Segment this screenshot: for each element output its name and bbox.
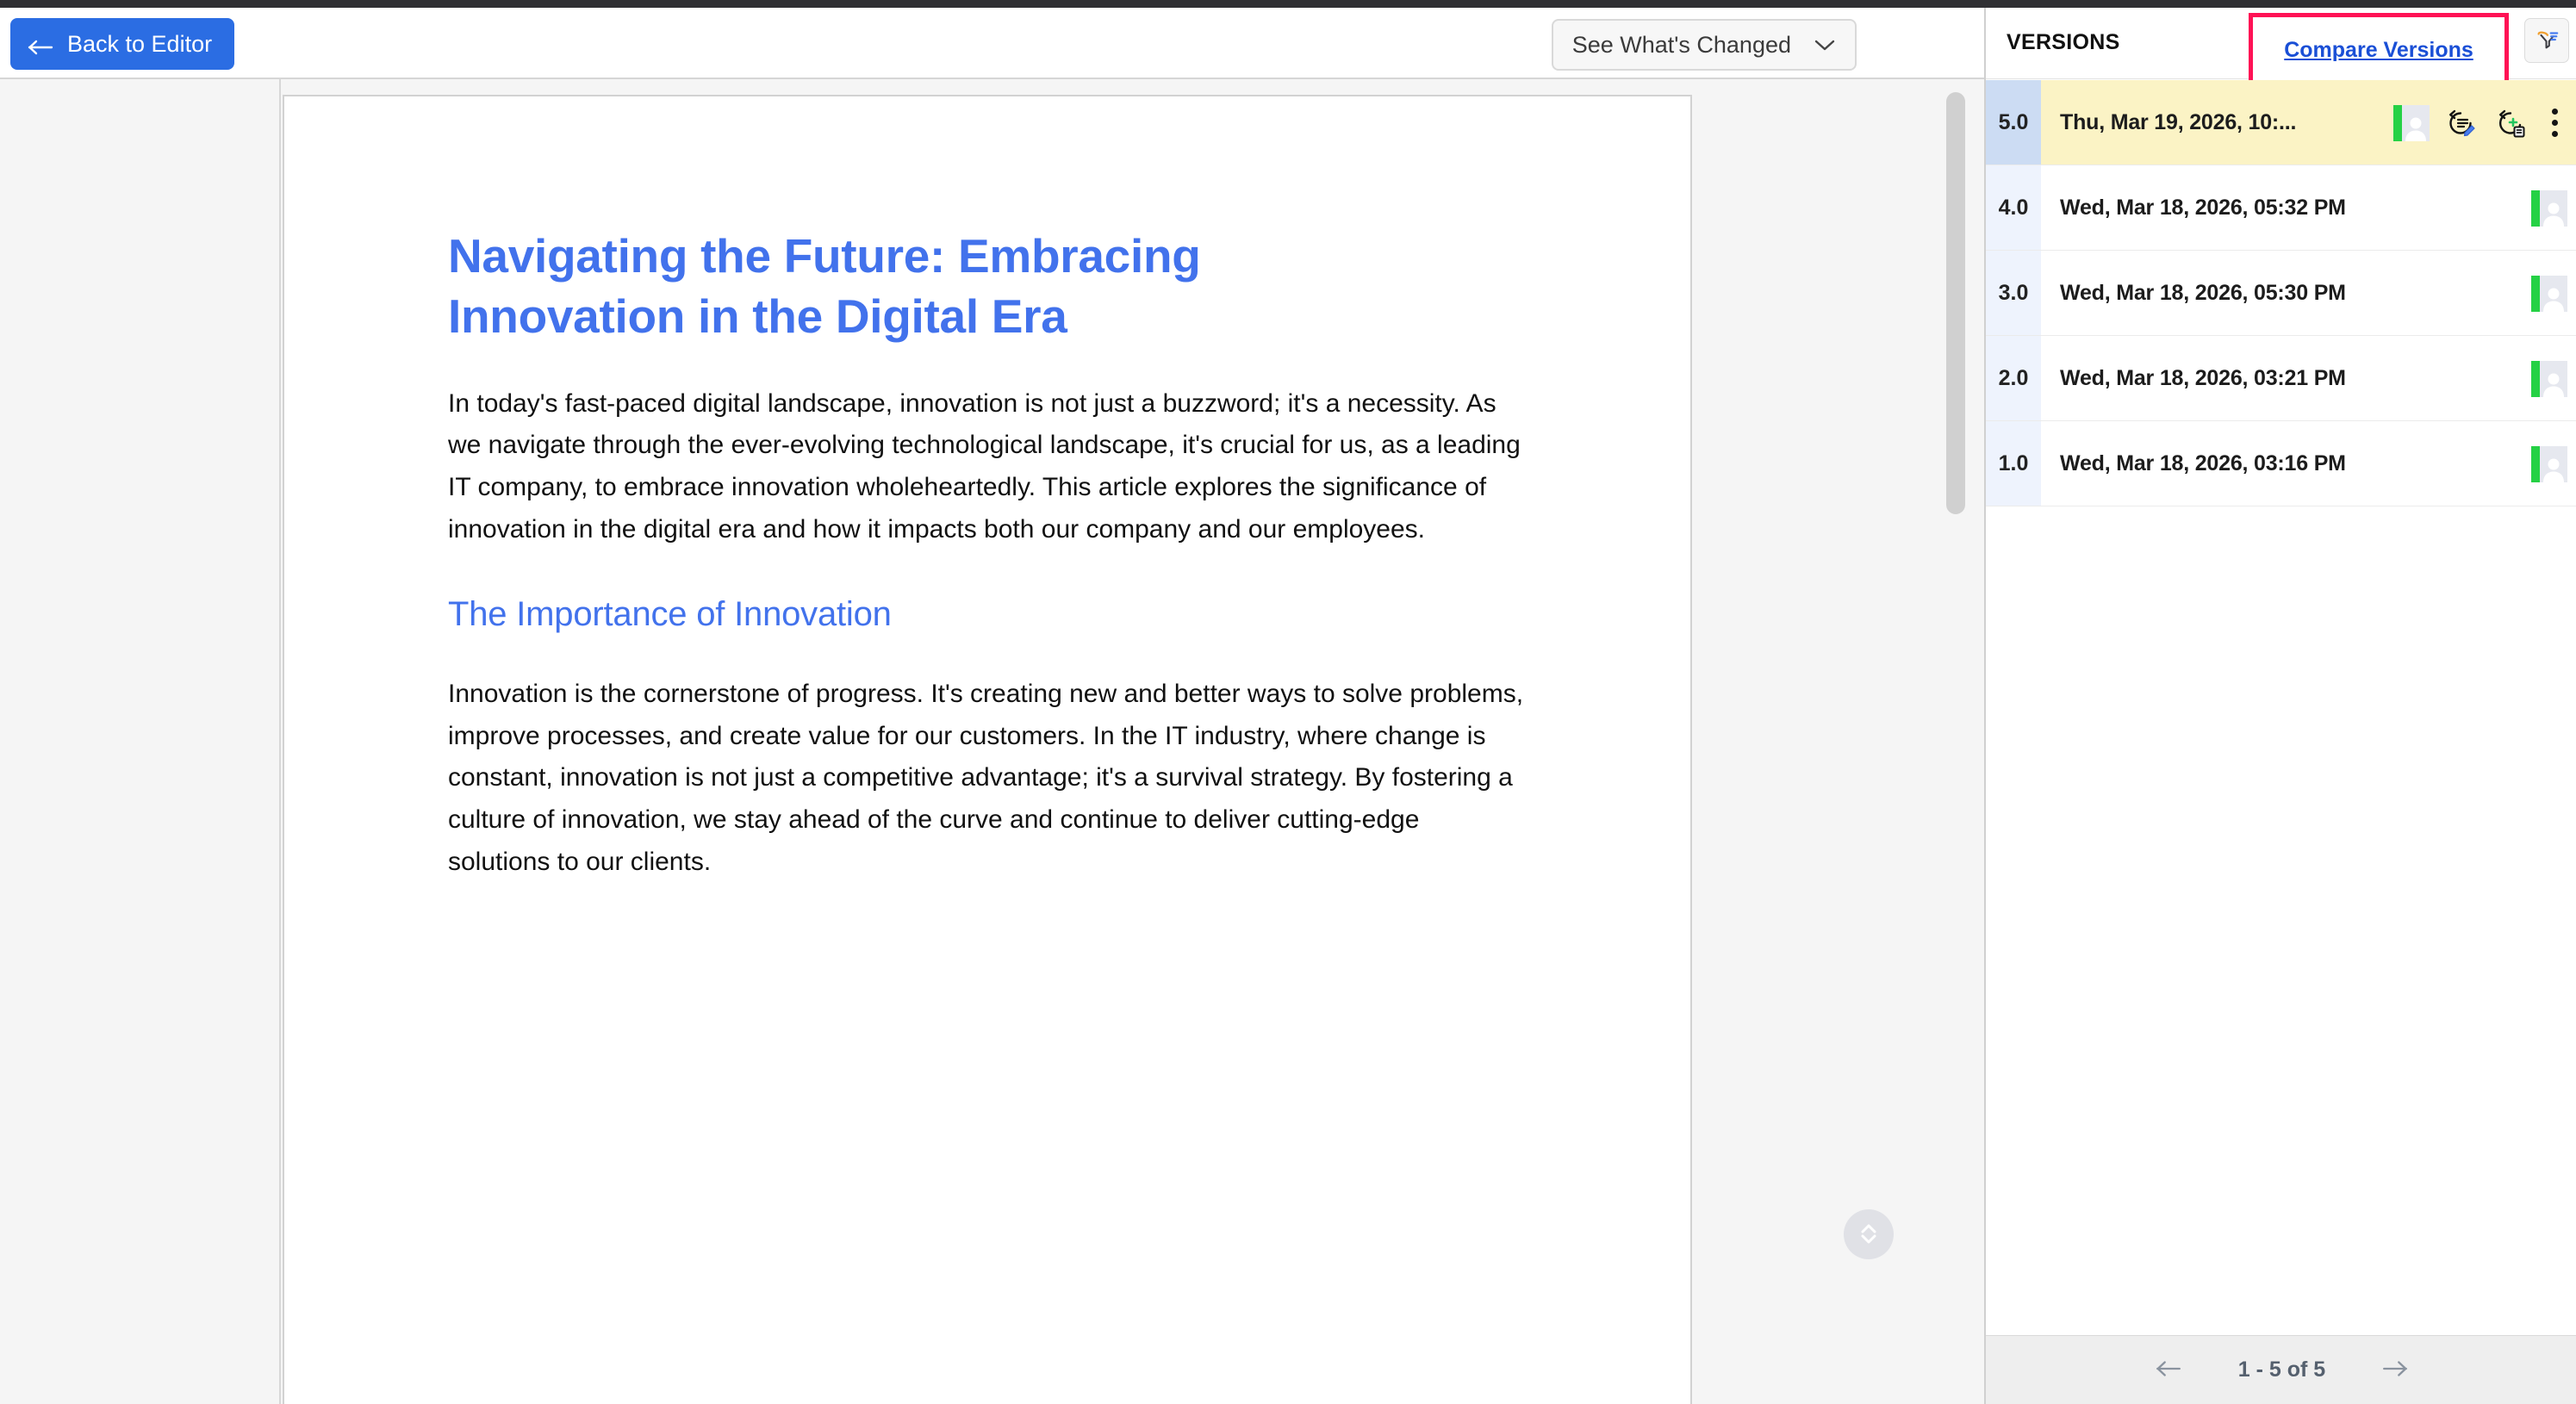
back-to-editor-button[interactable]: Back to Editor — [10, 18, 234, 70]
avatar-status-bar — [2531, 361, 2540, 397]
chevron-up-down-icon — [1856, 1221, 1882, 1249]
document-left-gutter — [0, 79, 281, 1404]
version-number: 3.0 — [1986, 251, 2041, 335]
filter-funnel-icon — [2534, 27, 2560, 55]
top-toolbar: Back to Editor See What's Changed — [0, 8, 1984, 79]
user-avatar-icon — [2393, 105, 2430, 141]
versions-list: 5.0 Thu, Mar 19, 2026, 10:... — [1986, 80, 2576, 1343]
versions-pagination-footer: 1 - 5 of 5 — [1986, 1335, 2576, 1404]
see-whats-changed-dropdown[interactable]: See What's Changed — [1552, 19, 1857, 71]
avatar-status-bar — [2531, 446, 2540, 482]
compare-versions-highlight-box: Compare Versions — [2249, 13, 2509, 87]
document-title: Navigating the Future: Embracing Innovat… — [448, 226, 1413, 347]
avatar-status-bar — [2531, 276, 2540, 312]
versions-panel: VERSIONS Compare Versions 5.0 Thu, Mar 1… — [1984, 8, 2576, 1404]
version-date: Thu, Mar 19, 2026, 10:... — [2060, 110, 2296, 135]
version-row-2[interactable]: 2.0 Wed, Mar 18, 2026, 03:21 PM — [1986, 336, 2576, 421]
scroll-toggle-button[interactable] — [1844, 1209, 1894, 1259]
version-date: Wed, Mar 18, 2026, 05:30 PM — [2060, 281, 2346, 306]
back-to-editor-label: Back to Editor — [67, 31, 212, 58]
restore-and-edit-icon[interactable] — [2442, 104, 2480, 142]
version-row-actions — [2531, 336, 2567, 421]
version-number: 4.0 — [1986, 165, 2041, 250]
document-viewer-area: Navigating the Future: Embracing Innovat… — [0, 79, 1984, 1404]
restore-as-new-icon[interactable] — [2492, 104, 2529, 142]
version-date: Wed, Mar 18, 2026, 05:32 PM — [2060, 196, 2346, 221]
version-number: 2.0 — [1986, 336, 2041, 420]
arrow-left-icon — [28, 35, 53, 53]
version-row-actions — [2531, 421, 2567, 506]
version-row-body[interactable]: Wed, Mar 18, 2026, 05:30 PM — [2041, 251, 2576, 335]
document-paragraph-2: Innovation is the cornerstone of progres… — [448, 674, 1527, 883]
version-date: Wed, Mar 18, 2026, 03:16 PM — [2060, 451, 2346, 476]
user-avatar-icon — [2531, 276, 2567, 312]
avatar-status-bar — [2393, 105, 2402, 141]
arrow-right-icon — [2381, 1358, 2409, 1382]
see-whats-changed-label: See What's Changed — [1572, 32, 1791, 59]
version-row-actions — [2531, 165, 2567, 251]
user-avatar-icon — [2531, 361, 2567, 397]
versions-scrollbar-thumb[interactable] — [1946, 92, 1965, 514]
filter-button[interactable] — [2524, 18, 2569, 63]
more-options-icon[interactable] — [2542, 104, 2567, 142]
version-row-4[interactable]: 4.0 Wed, Mar 18, 2026, 05:32 PM — [1986, 165, 2576, 251]
version-row-actions — [2393, 80, 2567, 165]
version-date: Wed, Mar 18, 2026, 03:21 PM — [2060, 366, 2346, 391]
version-row-body[interactable]: Wed, Mar 18, 2026, 03:16 PM — [2041, 421, 2576, 506]
versions-panel-title: VERSIONS — [2007, 30, 2120, 55]
version-number: 1.0 — [1986, 421, 2041, 506]
arrow-left-icon — [2155, 1358, 2182, 1382]
window-chrome-strip — [0, 0, 2576, 8]
version-row-body[interactable]: Wed, Mar 18, 2026, 03:21 PM — [2041, 336, 2576, 420]
versions-scrollbar-track[interactable] — [1936, 87, 1984, 1336]
version-row-5[interactable]: 5.0 Thu, Mar 19, 2026, 10:... — [1986, 80, 2576, 165]
version-number: 5.0 — [1986, 80, 2041, 165]
document-heading-2: The Importance of Innovation — [448, 595, 1527, 634]
chevron-down-icon — [1814, 38, 1836, 52]
compare-versions-link[interactable]: Compare Versions — [2284, 38, 2473, 63]
avatar-status-bar — [2531, 190, 2540, 227]
user-avatar-icon — [2531, 190, 2567, 227]
document-page: Navigating the Future: Embracing Innovat… — [283, 95, 1692, 1404]
versions-panel-header: VERSIONS Compare Versions — [1986, 8, 2576, 79]
pagination-range-label: 1 - 5 of 5 — [2238, 1357, 2325, 1382]
document-paragraph-1: In today's fast-paced digital landscape,… — [448, 383, 1527, 550]
next-page-button[interactable] — [2375, 1351, 2415, 1390]
version-row-body[interactable]: Wed, Mar 18, 2026, 05:32 PM — [2041, 165, 2576, 250]
user-avatar-icon — [2531, 446, 2567, 482]
previous-page-button[interactable] — [2149, 1351, 2188, 1390]
version-row-body[interactable]: Thu, Mar 19, 2026, 10:... — [2041, 80, 2576, 165]
version-row-actions — [2531, 251, 2567, 336]
version-row-1[interactable]: 1.0 Wed, Mar 18, 2026, 03:16 PM — [1986, 421, 2576, 506]
version-row-3[interactable]: 3.0 Wed, Mar 18, 2026, 05:30 PM — [1986, 251, 2576, 336]
